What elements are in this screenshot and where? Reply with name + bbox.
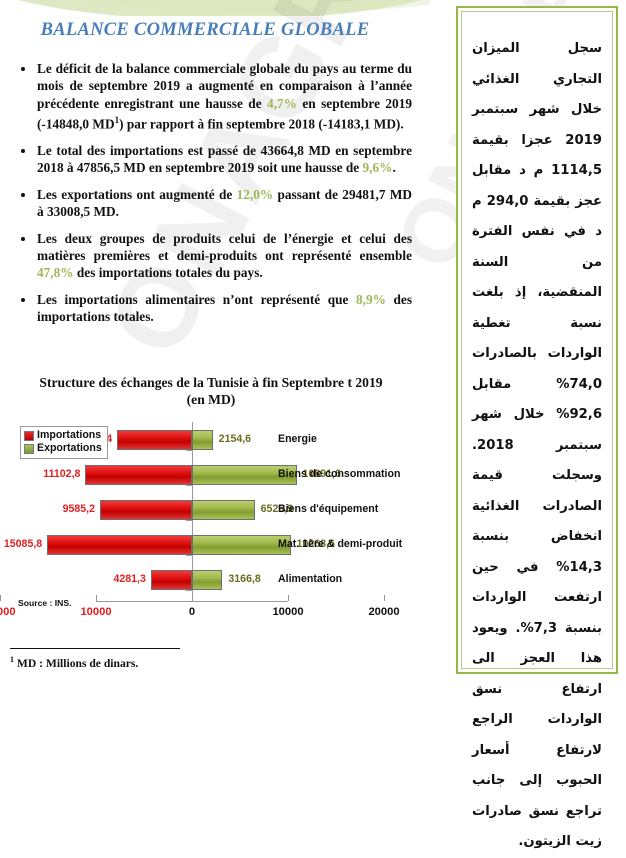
bar-exportations-3 [192, 535, 291, 555]
legend-swatch-imports-icon [24, 431, 34, 441]
value-label-importations-1: 11102,8 [0, 468, 80, 480]
chart-source-label: Source : INS. [18, 598, 71, 608]
chart-x-label-2: 0 [189, 606, 195, 618]
legend-item-exportations: Exportations [24, 442, 102, 455]
chart-x-label-1: 10000 [80, 606, 111, 618]
chart-legend: Importations Exportations [20, 426, 108, 459]
bar-exportations-4 [192, 570, 222, 590]
chart-title-line2: (en MD) [187, 392, 236, 407]
chart-category-tick [186, 555, 192, 556]
chart-x-tick-2 [192, 595, 193, 601]
chart-category-label-3: Mat. 1ère & demi-produit [278, 538, 402, 550]
chart-x-tick-0 [0, 595, 1, 601]
bar-importations-4 [151, 570, 192, 590]
bullet-item-importations-total: Le total des importations est passé de 4… [12, 142, 412, 177]
chart-x-axis-right [192, 601, 288, 602]
bullet-text: ) par rapport à fin septembre 2018 (-141… [119, 117, 404, 132]
value-label-exportations-0: 2154,6 [219, 433, 251, 445]
chart-title-line1: Structure des échanges de la Tunisie à f… [39, 375, 382, 390]
value-label-importations-4: 4281,3 [0, 573, 146, 585]
summary-bullet-list: Le déficit de la balance commerciale glo… [12, 60, 412, 335]
bar-importations-2 [100, 500, 192, 520]
chart-category-label-4: Alimentation [278, 573, 342, 585]
bullet-text: . [392, 160, 395, 175]
value-label-exportations-4: 3166,8 [228, 573, 260, 585]
bar-exportations-2 [192, 500, 255, 520]
chart-x-label-3: 10000 [272, 606, 303, 618]
page-title: BALANCE COMMERCIALE GLOBALE [0, 20, 410, 41]
bullet-text: des importations totales du pays. [74, 265, 263, 280]
footnote: 1 MD : Millions de dinars. [10, 655, 138, 670]
bullet-item-exportations: Les exportations ont augmenté de 12,0% p… [12, 186, 412, 221]
chart-category-tick [186, 450, 192, 451]
bar-importations-0 [117, 430, 192, 450]
chart-category-label-1: Biens de consommation [278, 468, 400, 480]
value-label-importations-2: 9585,2 [0, 503, 95, 515]
arabic-panel-inner-border: سجل الميزان التجاري الغذائي خلال شهر سبت… [461, 11, 613, 669]
bullet-item-energie-matieres: Les deux groupes de produits celui de l’… [12, 230, 412, 282]
bullet-text: Les importations alimentaires n’ont repr… [37, 292, 356, 307]
highlight-value: 4,7% [267, 96, 297, 111]
legend-swatch-exports-icon [24, 444, 34, 454]
chart-category-label-0: Energie [278, 433, 317, 445]
legend-item-importations: Importations [24, 429, 102, 442]
bar-importations-1 [85, 465, 192, 485]
chart-category-tick [186, 485, 192, 486]
bar-exportations-0 [192, 430, 213, 450]
trade-structure-chart: Importations Exportations 7801,42154,6En… [0, 420, 420, 610]
bar-importations-3 [47, 535, 192, 555]
bullet-text: Le total des importations est passé de 4… [37, 143, 412, 175]
left-content-column: BALANCE COMMERCIALE GLOBALE Le déficit d… [0, 0, 430, 684]
chart-category-tick [186, 590, 192, 591]
chart-category-label-2: Biens d'équipement [278, 503, 378, 515]
value-label-importations-3: 15085,8 [0, 538, 42, 550]
highlight-value: 9,6% [363, 160, 393, 175]
chart-x-tick-1 [96, 595, 97, 601]
bullet-item-deficit: Le déficit de la balance commerciale glo… [12, 60, 412, 133]
highlight-value: 8,9% [356, 292, 386, 307]
highlight-value: 12,0% [237, 187, 274, 202]
chart-title: Structure des échanges de la Tunisie à f… [6, 374, 416, 408]
chart-x-label-0: 20000 [0, 606, 16, 618]
chart-x-tick-4 [384, 595, 385, 601]
chart-category-tick [186, 520, 192, 521]
bullet-item-alimentaires: Les importations alimentaires n’ont repr… [12, 291, 412, 326]
legend-label-exportations: Exportations [37, 442, 102, 455]
chart-x-tick-3 [288, 595, 289, 601]
footnote-divider [10, 648, 180, 649]
arabic-summary-text: سجل الميزان التجاري الغذائي خلال شهر سبت… [472, 34, 602, 858]
legend-label-importations: Importations [37, 429, 101, 442]
chart-x-label-4: 20000 [368, 606, 399, 618]
bullet-text: Les deux groupes de produits celui de l’… [37, 231, 412, 263]
highlight-value: 47,8% [37, 265, 74, 280]
arabic-summary-panel: سجل الميزان التجاري الغذائي خلال شهر سبت… [456, 6, 618, 674]
bullet-text: Les exportations ont augmenté de [37, 187, 237, 202]
footnote-text: MD : Millions de dinars. [14, 657, 138, 670]
